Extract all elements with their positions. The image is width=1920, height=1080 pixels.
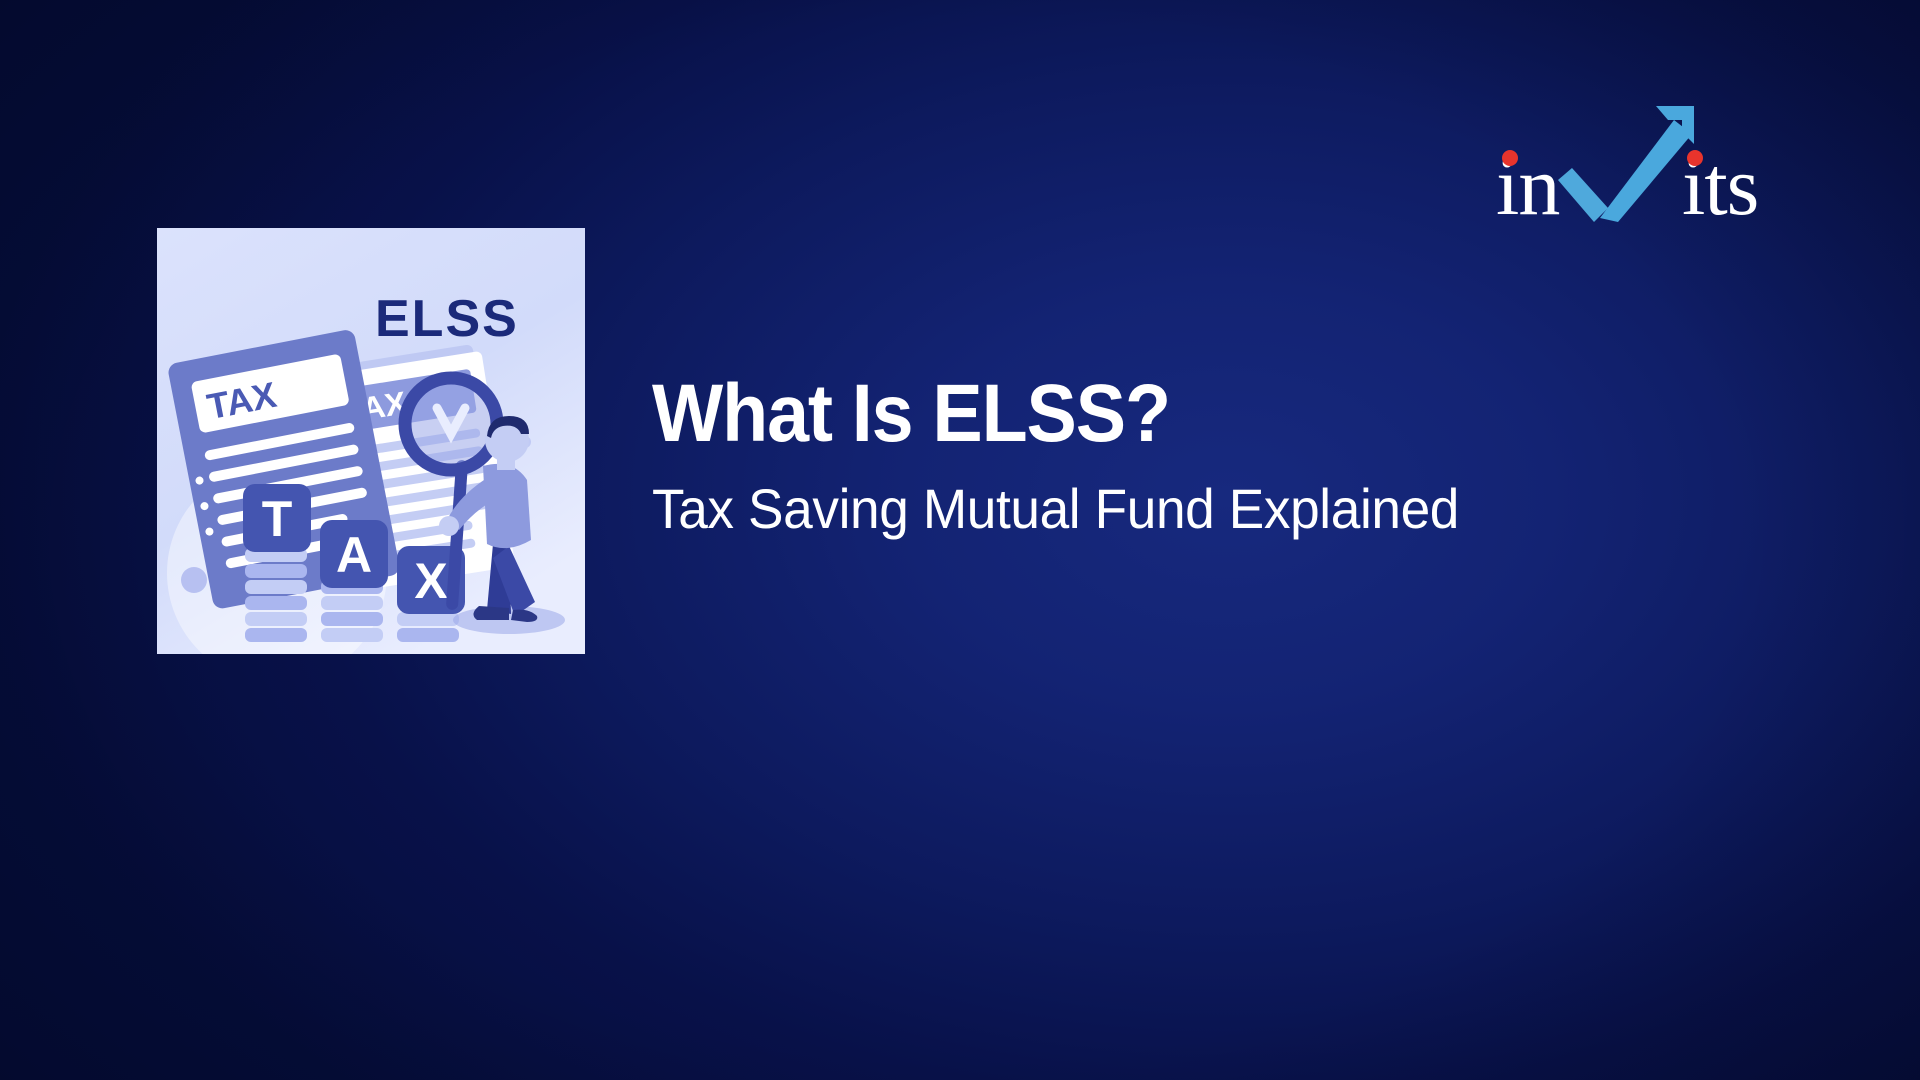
- hero-banner: in its: [0, 0, 1920, 1080]
- bg-dot-decor: [181, 567, 207, 593]
- logo-dot-right-icon: [1687, 150, 1703, 166]
- logo-arrow-icon: [1558, 106, 1694, 222]
- letter-block-t: T: [243, 484, 311, 552]
- illustration-heading: ELSS: [375, 290, 519, 348]
- letter-block-a: A: [320, 520, 388, 588]
- logo-dot-left-icon: [1502, 150, 1518, 166]
- page-title: What Is ELSS?: [652, 372, 1664, 456]
- brand-logo[interactable]: in its: [1496, 96, 1826, 222]
- page-subtitle: Tax Saving Mutual Fund Explained: [652, 478, 1697, 540]
- hero-illustration: ELSS TAX: [157, 228, 585, 654]
- letter-block-a-label: A: [336, 527, 372, 583]
- hero-text-block: What Is ELSS? Tax Saving Mutual Fund Exp…: [652, 372, 1752, 539]
- letter-block-t-label: T: [262, 491, 293, 547]
- letter-block-x-label: X: [414, 553, 447, 609]
